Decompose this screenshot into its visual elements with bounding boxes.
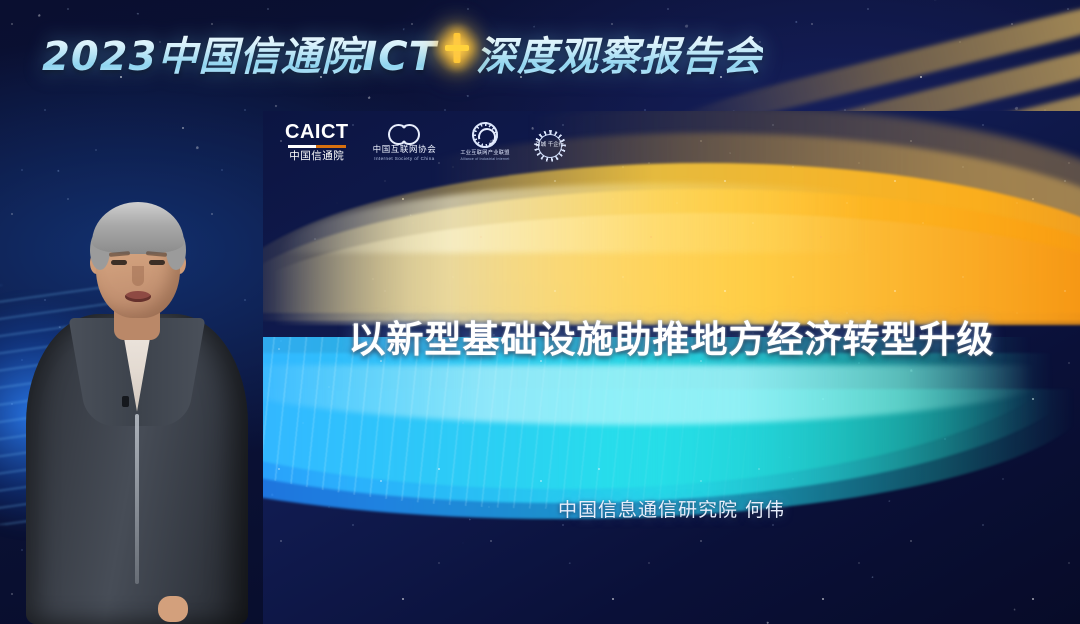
presenter-mouth <box>125 291 151 302</box>
star-plus-icon <box>440 31 474 65</box>
lapel-microphone-icon <box>122 396 129 407</box>
slide-title: 以新型基础设施助推地方经济转型升级 <box>263 309 1080 363</box>
event-title-part2: 深度观察报告会 <box>476 24 763 82</box>
caict-wordmark: CAICT <box>285 122 349 142</box>
caict-name-cn: 中国信通院 <box>289 151 344 162</box>
gear-badge-icon: 百城 千企行 <box>534 130 566 162</box>
presenter-eye-left <box>111 260 127 265</box>
event-banner-title: 2023中国信通院ICT 深度观察报告会 <box>42 24 763 82</box>
alliance-name-en: Alliance of Industrial Internet <box>461 158 510 161</box>
industrial-internet-alliance-logo: 工业互联网产业联盟 Alliance of Industrial Interne… <box>460 122 509 161</box>
presenter-hair <box>92 202 184 254</box>
presenter-zipper <box>135 414 139 584</box>
alliance-name-cn: 工业互联网产业联盟 <box>460 151 509 156</box>
internet-society-of-china-logo: 中国互联网协会 Internet Society of China <box>373 123 437 161</box>
badge-label: 百城 千企行 <box>535 142 564 149</box>
event-title-part1: 2023中国信通院ICT <box>42 24 437 82</box>
broadcast-screen: 2023中国信通院ICT 深度观察报告会 <box>0 0 1080 624</box>
caict-rule <box>288 145 346 148</box>
presenter-hand <box>158 596 188 622</box>
caict-logo: CAICT 中国信通院 <box>285 122 349 162</box>
presenter-video-feed <box>18 196 256 624</box>
isc-swirl-icon <box>388 123 420 142</box>
presenter-eye-right <box>149 260 165 265</box>
gear-swirl-icon <box>472 122 498 148</box>
slide-logo-bar: CAICT 中国信通院 中国互联网协会 Internet Society of … <box>285 122 566 162</box>
isc-name-en: Internet Society of China <box>374 157 434 162</box>
slide-byline: 中国信息通信研究院 何伟 <box>263 495 1080 522</box>
presenter-nose <box>132 266 144 286</box>
isc-name-cn: 中国互联网协会 <box>373 146 437 155</box>
presentation-slide: CAICT 中国信通院 中国互联网协会 Internet Society of … <box>263 111 1080 624</box>
badge-logo: 百城 千企行 <box>534 130 566 162</box>
cyan-light-streak <box>263 337 1080 624</box>
